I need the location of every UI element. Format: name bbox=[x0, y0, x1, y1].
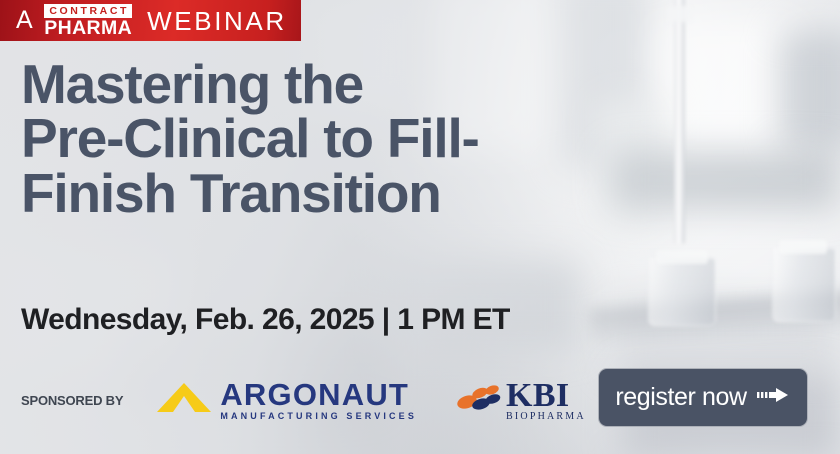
sponsors-row: SPONSORED BY ARGONAUT MANUFACTURING SERV… bbox=[21, 372, 586, 428]
kbi-tagline: BIOPHARMA bbox=[506, 412, 586, 422]
kbi-biopharma-logo: KBI BIOPHARMA bbox=[457, 379, 586, 422]
contract-pharma-logo: CONTRACT PHARMA bbox=[44, 3, 132, 38]
argonaut-wordmark: ARGONAUT MANUFACTURING SERVICES bbox=[220, 379, 417, 421]
ribbon-webinar-label: WEBINAR bbox=[143, 8, 287, 34]
argonaut-tagline: MANUFACTURING SERVICES bbox=[220, 412, 417, 421]
register-now-label: register now bbox=[615, 385, 746, 410]
webinar-ribbon: A CONTRACT PHARMA WEBINAR bbox=[0, 0, 301, 41]
argonaut-triangle-icon bbox=[155, 381, 213, 419]
event-datetime: Wednesday, Feb. 26, 2025 | 1 PM ET bbox=[21, 303, 510, 337]
headline-line-1: Mastering the bbox=[21, 57, 621, 111]
ribbon-article: A bbox=[16, 8, 33, 33]
headline-line-2: Pre-Clinical to Fill- bbox=[21, 111, 621, 165]
sponsored-by-label: SPONSORED BY bbox=[21, 393, 123, 408]
logo-word-pharma: PHARMA bbox=[44, 19, 132, 39]
argonaut-name: ARGONAUT bbox=[220, 379, 417, 410]
kbi-name: KBI bbox=[506, 379, 586, 413]
register-now-button[interactable]: register now bbox=[598, 368, 808, 427]
webinar-promo-banner: A CONTRACT PHARMA WEBINAR Mastering the … bbox=[0, 0, 840, 454]
kbi-wordmark: KBI BIOPHARMA bbox=[506, 379, 586, 422]
page-title: Mastering the Pre-Clinical to Fill- Fini… bbox=[21, 57, 621, 220]
logo-word-contract: CONTRACT bbox=[44, 4, 132, 18]
motion-arrow-right-icon bbox=[757, 385, 791, 410]
headline-line-3: Finish Transition bbox=[21, 166, 621, 220]
argonaut-logo: ARGONAUT MANUFACTURING SERVICES bbox=[155, 379, 417, 421]
kbi-petals-icon bbox=[457, 381, 501, 420]
